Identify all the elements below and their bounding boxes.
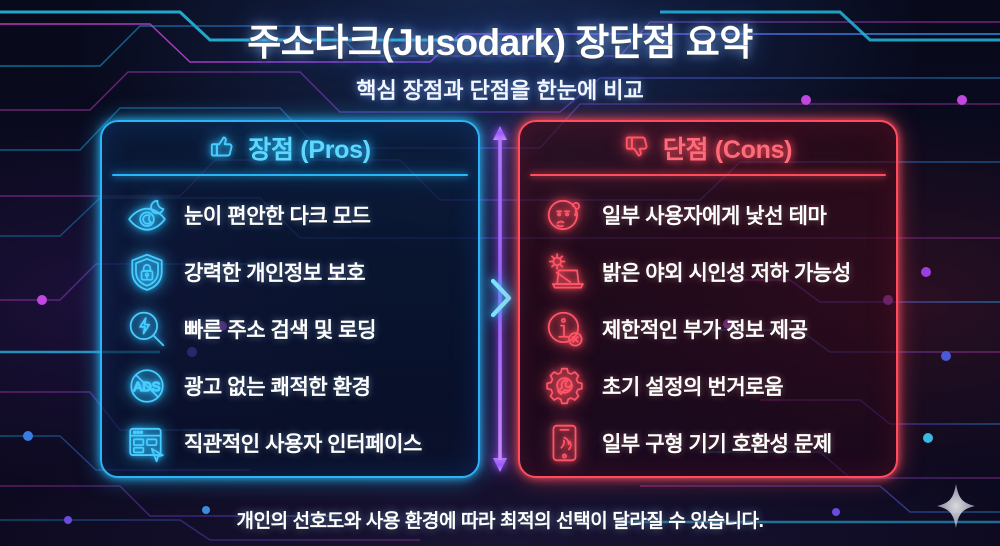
cons-heading-label: 단점 (Cons) bbox=[663, 130, 792, 166]
no-ads-icon: ADS bbox=[124, 363, 170, 409]
thumbs-up-icon bbox=[209, 133, 239, 163]
phone-warning-icon bbox=[542, 420, 588, 466]
chevron-right-icon bbox=[483, 273, 517, 323]
magnifier-bolt-icon bbox=[124, 306, 170, 352]
cons-panel: 단점 (Cons) 일부 사용자에게 낯선 테마 밝은 야외 시인성 저하 가능… bbox=[518, 120, 898, 478]
pros-item-dark-mode[interactable]: 눈이 편안한 다크 모드 bbox=[102, 186, 478, 243]
cons-item-outdoor-visibility[interactable]: 밝은 야외 시인성 저하 가능성 bbox=[520, 243, 896, 300]
cons-item-device-compat[interactable]: 일부 구형 기기 호환성 문제 bbox=[520, 414, 896, 471]
infographic-canvas: 주소다크(Jusodark) 장단점 요약 핵심 장점과 단점을 한눈에 비교 … bbox=[0, 0, 1000, 546]
thumbs-down-icon bbox=[624, 133, 654, 163]
cons-panel-heading: 단점 (Cons) bbox=[520, 122, 896, 174]
sparkle-icon bbox=[934, 482, 978, 530]
pros-item-fast-search[interactable]: 빠른 주소 검색 및 로딩 bbox=[102, 300, 478, 357]
cons-item-setup-hassle[interactable]: 초기 설정의 번거로움 bbox=[520, 357, 896, 414]
pros-item-label: 직관적인 사용자 인터페이스 bbox=[184, 428, 422, 458]
info-blocked-icon bbox=[542, 306, 588, 352]
cons-item-label: 밝은 야외 시인성 저하 가능성 bbox=[602, 257, 851, 287]
cons-item-label: 제한적인 부가 정보 제공 bbox=[602, 314, 808, 344]
pros-item-label: 강력한 개인정보 보호 bbox=[184, 257, 365, 287]
cons-item-list: 일부 사용자에게 낯선 테마 밝은 야외 시인성 저하 가능성 제한적인 부가 … bbox=[520, 176, 896, 471]
cons-item-label: 일부 사용자에게 낯선 테마 bbox=[602, 200, 826, 230]
pros-item-privacy[interactable]: 강력한 개인정보 보호 bbox=[102, 243, 478, 300]
thinking-face-icon bbox=[542, 192, 588, 238]
pros-panel-heading: 장점 (Pros) bbox=[102, 122, 478, 174]
panel-comparison-divider bbox=[485, 118, 515, 480]
cons-item-label: 일부 구형 기기 호환성 문제 bbox=[602, 428, 832, 458]
page-subtitle: 핵심 장점과 단점을 한눈에 비교 bbox=[0, 73, 1000, 105]
pros-item-no-ads[interactable]: ADS 광고 없는 쾌적한 환경 bbox=[102, 357, 478, 414]
pros-item-intuitive-ui[interactable]: 직관적인 사용자 인터페이스 bbox=[102, 414, 478, 471]
eye-moon-icon bbox=[124, 192, 170, 238]
svg-text:ADS: ADS bbox=[134, 379, 161, 394]
pros-item-label: 빠른 주소 검색 및 로딩 bbox=[184, 314, 376, 344]
footer-note: 개인의 선호도와 사용 환경에 따라 최적의 선택이 달라질 수 있습니다. bbox=[0, 506, 1000, 533]
pros-item-list: 눈이 편안한 다크 모드 강력한 개인정보 보호 빠른 주소 검색 및 로딩 A… bbox=[102, 176, 478, 471]
pros-item-label: 광고 없는 쾌적한 환경 bbox=[184, 371, 371, 401]
pros-item-label: 눈이 편안한 다크 모드 bbox=[184, 200, 371, 230]
sun-laptop-icon bbox=[542, 249, 588, 295]
gear-wrench-icon bbox=[542, 363, 588, 409]
pros-heading-label: 장점 (Pros) bbox=[248, 130, 370, 166]
title-block: 주소다크(Jusodark) 장단점 요약 핵심 장점과 단점을 한눈에 비교 bbox=[0, 12, 1000, 105]
cons-item-unfamiliar-theme[interactable]: 일부 사용자에게 낯선 테마 bbox=[520, 186, 896, 243]
pros-panel: 장점 (Pros) 눈이 편안한 다크 모드 강력한 개인정보 보호 빠 bbox=[100, 120, 480, 478]
ui-cursor-icon bbox=[124, 420, 170, 466]
cons-item-label: 초기 설정의 번거로움 bbox=[602, 371, 783, 401]
cons-item-limited-info[interactable]: 제한적인 부가 정보 제공 bbox=[520, 300, 896, 357]
shield-lock-icon bbox=[124, 249, 170, 295]
page-title: 주소다크(Jusodark) 장단점 요약 bbox=[0, 12, 1000, 66]
